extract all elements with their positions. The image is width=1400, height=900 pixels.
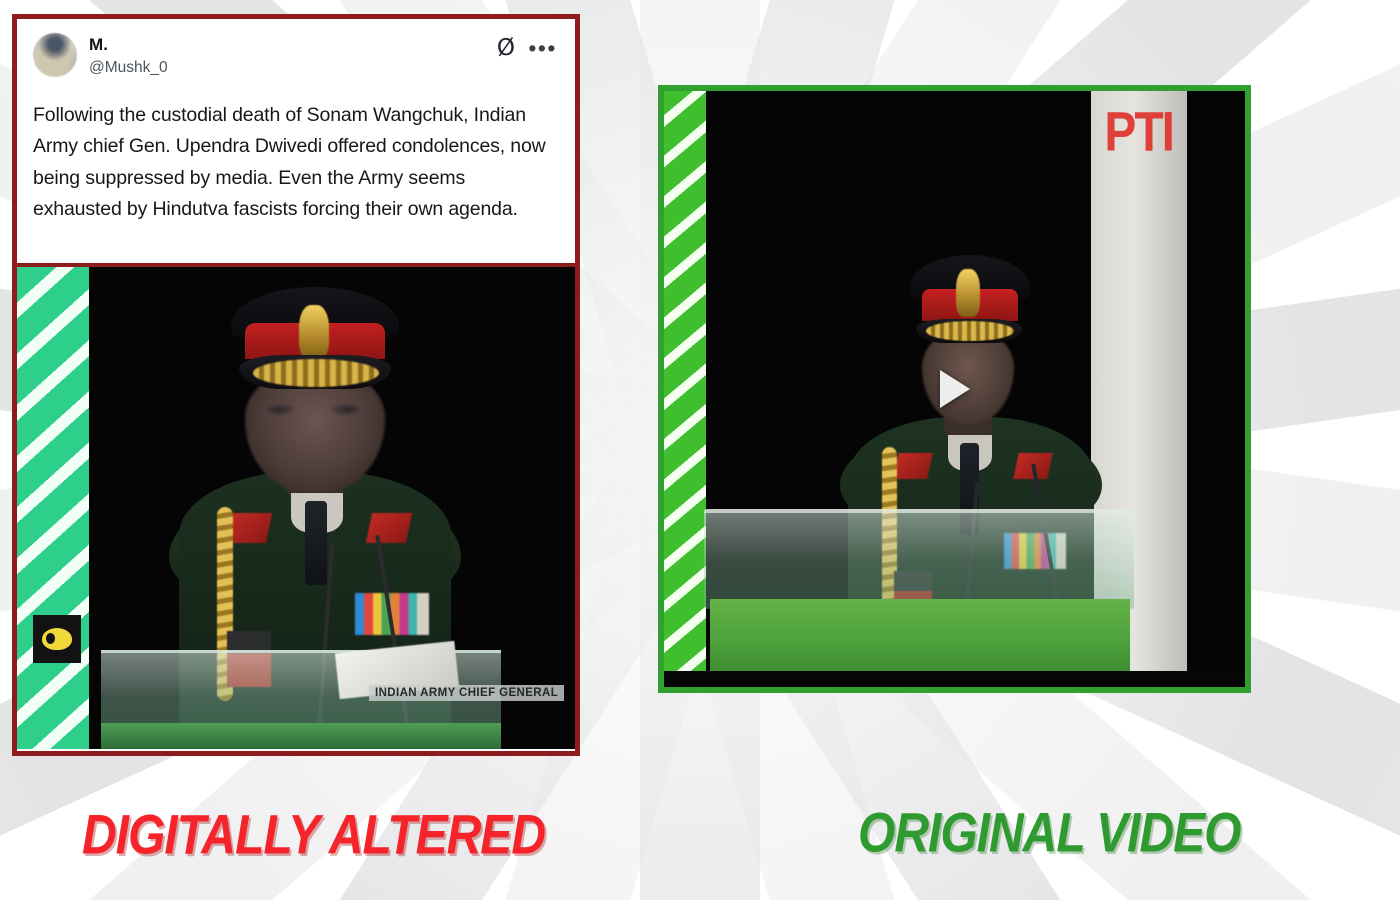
shoulder-rank-right: [366, 513, 412, 543]
cap-badge-icon: [956, 269, 980, 317]
tweet-header: M. @Mushk_0 Ø •••: [33, 33, 559, 78]
channel-logo-glyph: [42, 628, 72, 650]
original-video-frame[interactable]: PTI: [664, 91, 1245, 687]
cap-badge-icon: [299, 305, 329, 359]
verdict-label-original: ORIGINAL VIDEO: [858, 802, 1241, 866]
digitally-altered-panel: M. @Mushk_0 Ø ••• Following the custodia…: [12, 14, 580, 756]
stage-foreground: [664, 671, 1245, 687]
necktie: [305, 501, 327, 585]
podium-base: [101, 723, 501, 749]
tweet-card: M. @Mushk_0 Ø ••• Following the custodia…: [17, 19, 575, 267]
tweet-display-name: M.: [89, 34, 168, 55]
altered-video-frame[interactable]: INDIAN ARMY CHIEF GENERAL: [17, 267, 575, 749]
play-button-icon[interactable]: [940, 370, 970, 408]
verdict-label-altered: DIGITALLY ALTERED: [82, 804, 545, 868]
avatar[interactable]: [33, 33, 77, 77]
tweet-identity: M. @Mushk_0: [89, 33, 168, 78]
altered-video-scene: INDIAN ARMY CHIEF GENERAL: [17, 267, 575, 749]
podium-base: [710, 599, 1130, 673]
news-ticker-text: INDIAN ARMY CHIEF GENERAL: [369, 685, 564, 701]
more-options-icon[interactable]: •••: [528, 40, 557, 56]
original-video-panel: PTI: [658, 85, 1251, 693]
cap-gold-braid: [253, 359, 379, 387]
channel-watermark-icon: [33, 615, 81, 663]
eye-left: [261, 403, 295, 416]
tweet-handle: @Mushk_0: [89, 58, 168, 77]
no-ads-icon[interactable]: Ø: [496, 36, 516, 60]
glass-podium: [704, 509, 1134, 609]
tweet-text: Following the custodial death of Sonam W…: [33, 100, 559, 226]
tweet-actions: Ø •••: [497, 37, 557, 60]
eye-right: [331, 403, 365, 416]
cap-gold-braid: [926, 321, 1014, 341]
shoulder-rank-left: [893, 453, 933, 479]
